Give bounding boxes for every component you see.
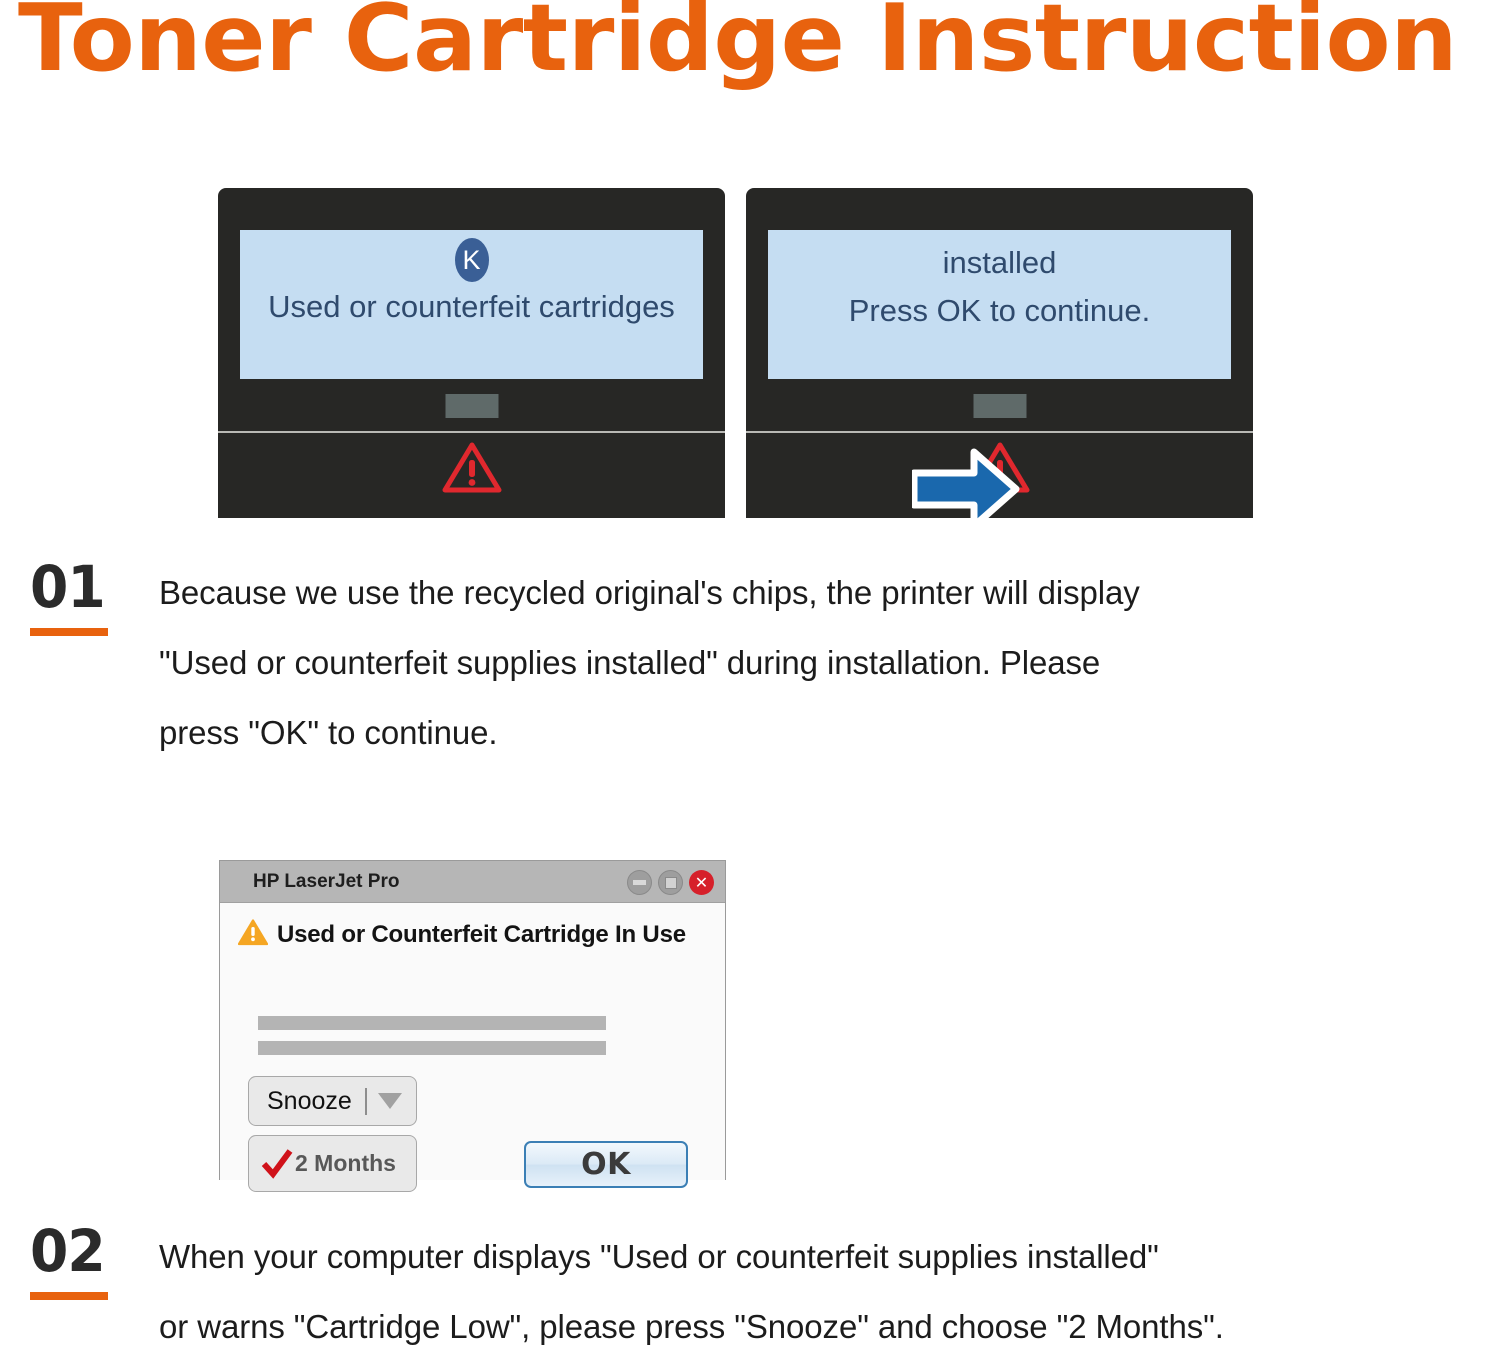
step-02-line-1: When your computer displays "Used or cou…	[159, 1222, 1489, 1292]
hp-laserjet-dialog: HP LaserJet Pro ✕ Used or Counterfeit Ca…	[219, 860, 726, 1180]
step-02-number: 02	[30, 1222, 105, 1280]
page-title: Toner Cartridge Instruction	[18, 0, 1500, 85]
step-01-number: 01	[30, 558, 105, 616]
printer-screen-message-right-line1: installed	[768, 244, 1231, 283]
ok-button-label: OK	[581, 1147, 631, 1182]
step-02-number-block: 02	[30, 1222, 145, 1300]
step-02-accent-rule	[30, 1292, 108, 1300]
two-months-label: 2 Months	[295, 1150, 396, 1177]
printer-screen-left: K Used or counterfeit cartridges	[240, 230, 703, 379]
window-controls: ✕	[627, 870, 714, 895]
dialog-warning-title: Used or Counterfeit Cartridge In Use	[277, 921, 686, 949]
printer-panel-left: K Used or counterfeit cartridges	[218, 188, 725, 518]
dialog-placeholder-bar-2	[258, 1041, 606, 1055]
dialog-placeholder-bar-1	[258, 1016, 606, 1030]
step-01-line-3: press "OK" to continue.	[159, 698, 1489, 768]
cartridge-k-badge-icon: K	[455, 238, 489, 282]
printer-panel-divider-left	[218, 431, 725, 433]
printer-panel-divider-right	[746, 431, 1253, 433]
printer-screen-message-left: Used or counterfeit cartridges	[240, 288, 703, 327]
dialog-warning-row: Used or Counterfeit Cartridge In Use	[238, 919, 686, 951]
snooze-dropdown-button[interactable]: Snooze	[248, 1076, 417, 1126]
warning-triangle-icon	[238, 919, 268, 951]
printer-hardware-button-left[interactable]	[445, 394, 498, 418]
snooze-divider	[365, 1088, 367, 1115]
step-02-line-2: or warns "Cartridge Low", please press "…	[159, 1292, 1489, 1362]
right-arrow-icon	[912, 446, 1020, 532]
dialog-titlebar: HP LaserJet Pro ✕	[220, 861, 725, 903]
checkmark-icon	[261, 1149, 293, 1179]
two-months-option-button[interactable]: 2 Months	[248, 1135, 417, 1192]
step-01-number-block: 01	[30, 558, 145, 636]
chevron-down-icon[interactable]	[378, 1093, 402, 1109]
printer-panels-row: K Used or counterfeit cartridges install…	[218, 188, 1253, 518]
printer-screen-right: installed Press OK to continue.	[768, 230, 1231, 379]
minimize-icon[interactable]	[627, 870, 652, 895]
dialog-body: Used or Counterfeit Cartridge In Use Sno…	[220, 903, 725, 1180]
step-01-line-1: Because we use the recycled original's c…	[159, 558, 1489, 628]
printer-hardware-button-right[interactable]	[973, 394, 1026, 418]
step-01-line-2: "Used or counterfeit supplies installed"…	[159, 628, 1489, 698]
step-01-text: Because we use the recycled original's c…	[159, 558, 1489, 768]
snooze-label: Snooze	[267, 1087, 352, 1116]
close-icon[interactable]: ✕	[689, 870, 714, 895]
step-01-accent-rule	[30, 628, 108, 636]
printer-screen-message-right-line2: Press OK to continue.	[768, 292, 1231, 331]
warning-triangle-icon-left	[441, 440, 503, 496]
ok-button[interactable]: OK	[524, 1141, 688, 1188]
step-02-text: When your computer displays "Used or cou…	[159, 1222, 1489, 1362]
dialog-title: HP LaserJet Pro	[253, 861, 399, 903]
maximize-icon[interactable]	[658, 870, 683, 895]
